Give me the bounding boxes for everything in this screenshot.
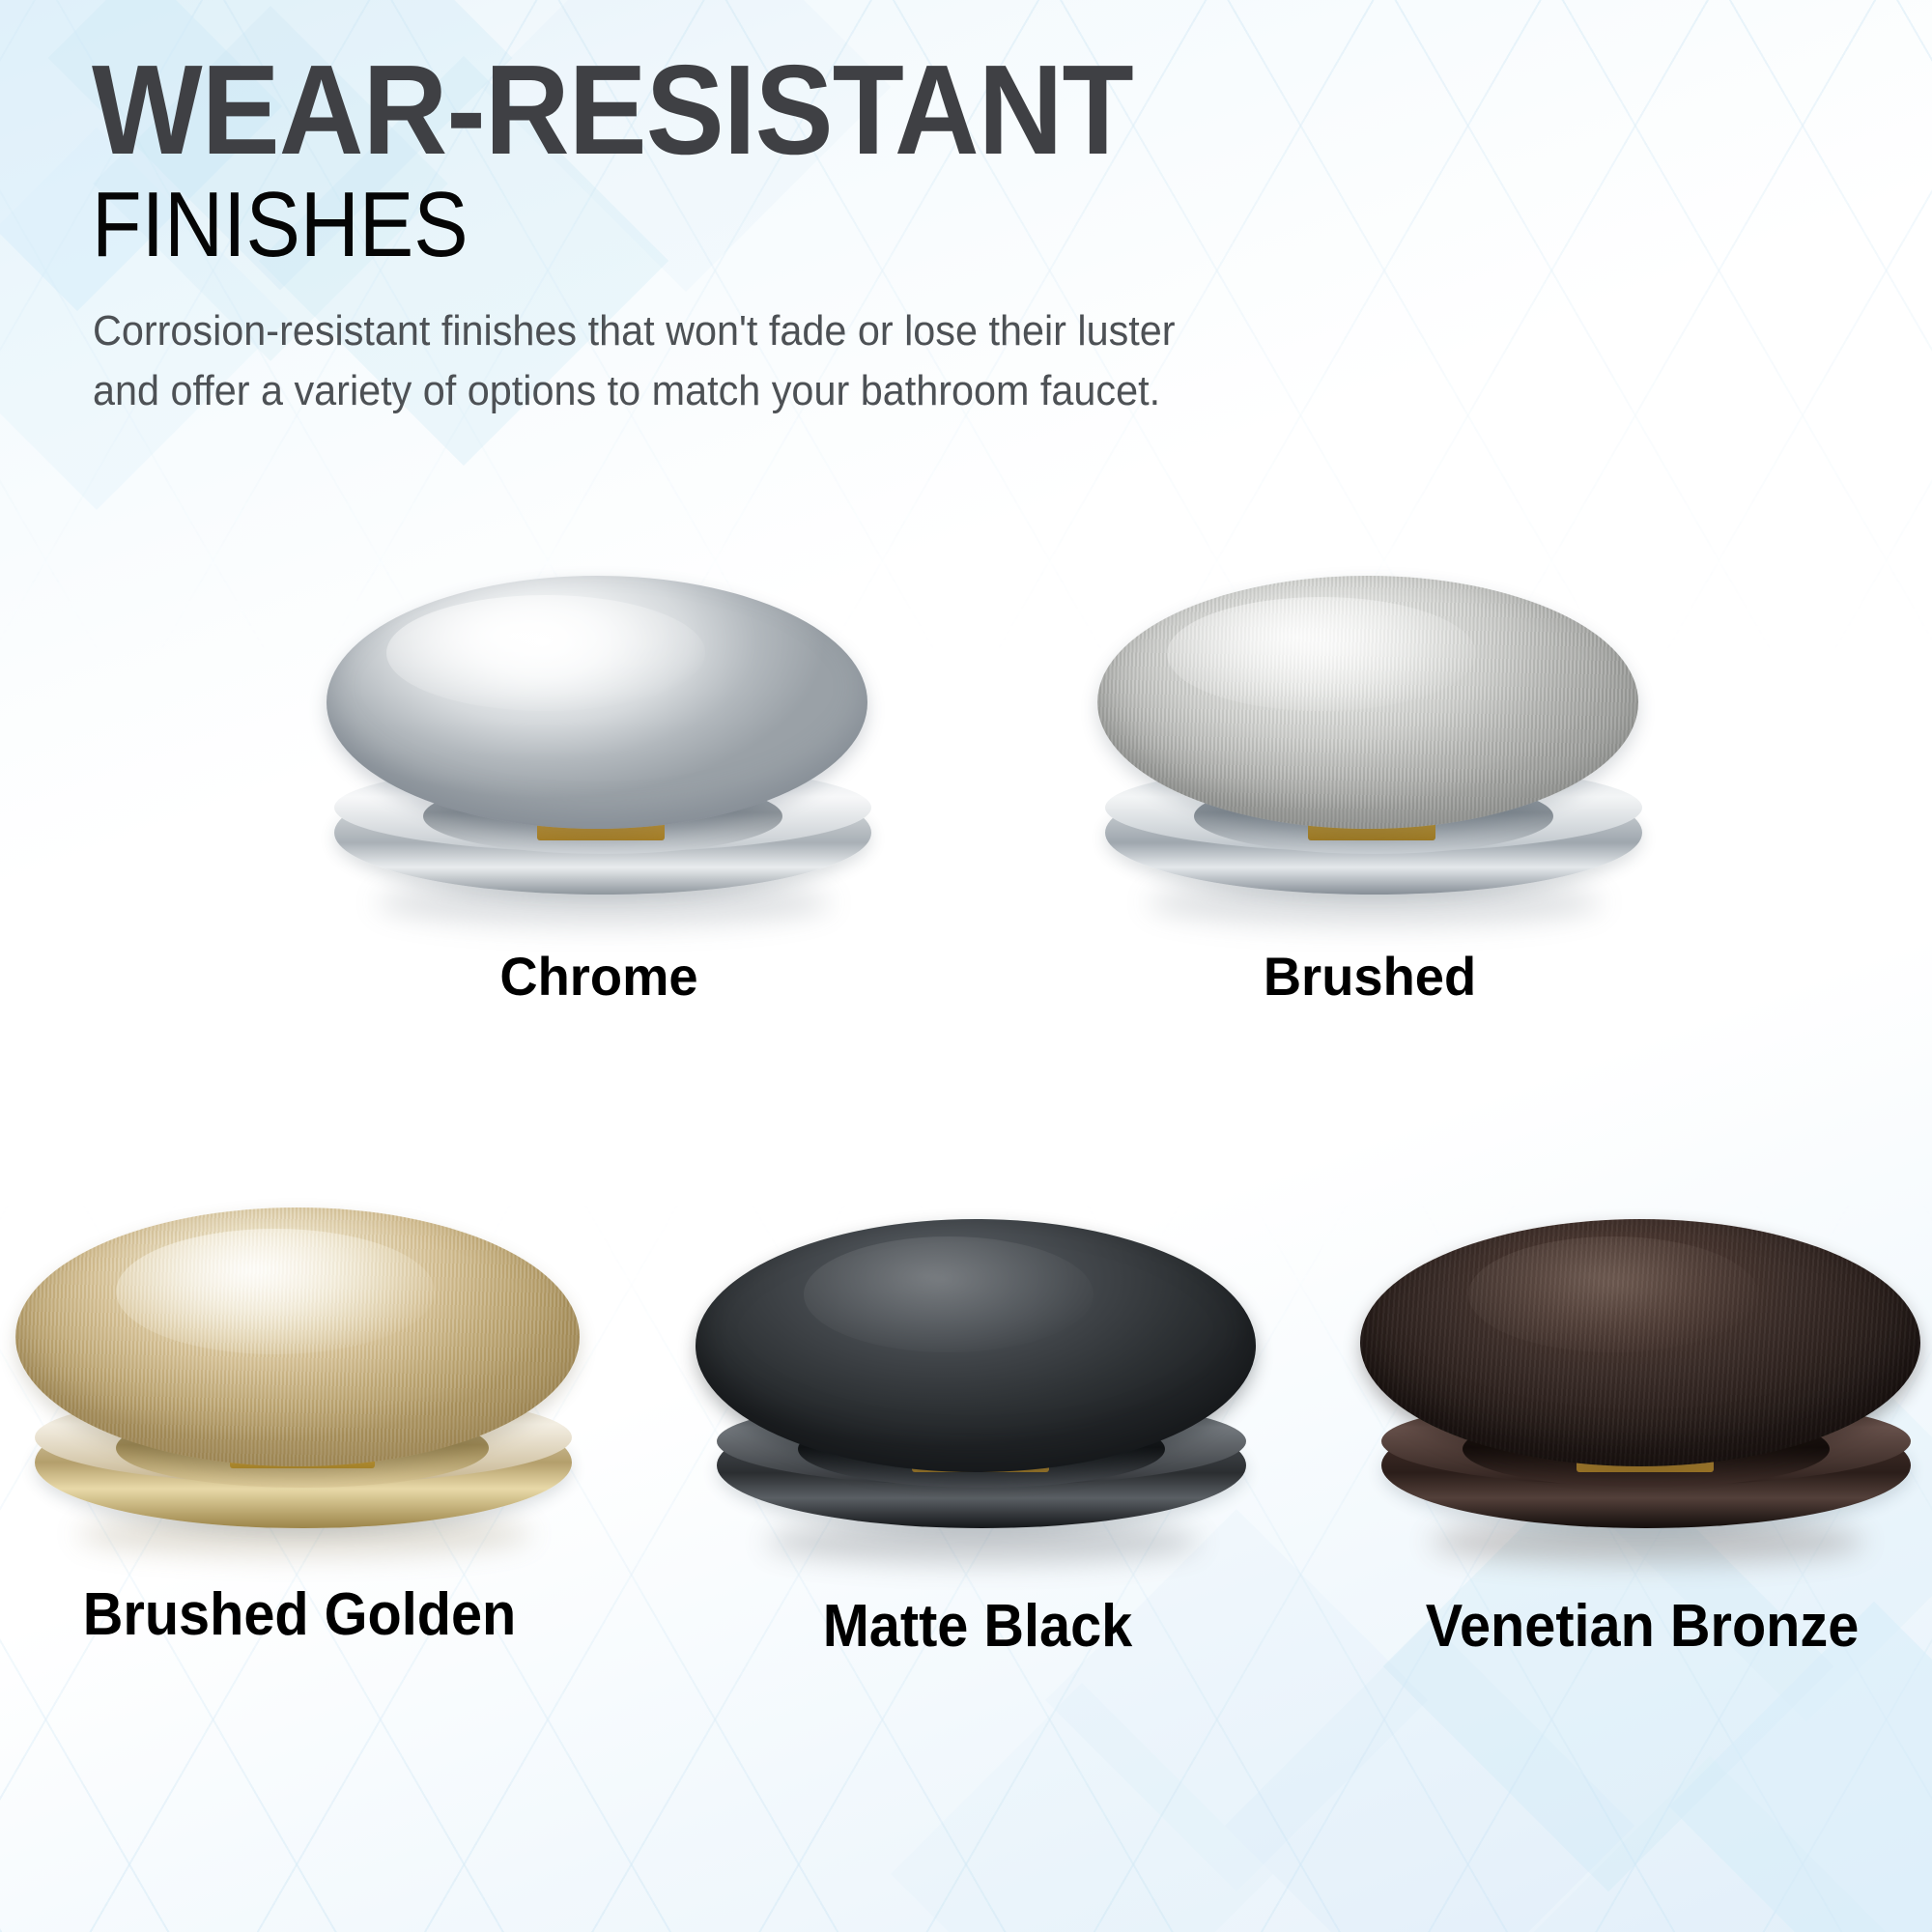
- product-card-venetian-bronze[interactable]: Venetian Bronze: [1352, 1219, 1932, 1673]
- dome-cap: [15, 1207, 580, 1466]
- infographic-page: WEAR-RESISTANT FINISHES Corrosion-resist…: [0, 0, 1932, 1932]
- header-description: Corrosion-resistant finishes that won't …: [93, 301, 1473, 422]
- product-image-matte-black: [688, 1219, 1267, 1567]
- product-label-brushed-golden: Brushed Golden: [30, 1580, 569, 1649]
- product-image-brushed: [1080, 570, 1660, 918]
- product-image-brushed-golden: [10, 1207, 589, 1555]
- dome-cap: [327, 576, 867, 829]
- product-card-brushed-golden[interactable]: Brushed Golden: [10, 1207, 589, 1662]
- dome-cap: [696, 1219, 1256, 1472]
- product-card-chrome[interactable]: Chrome: [309, 570, 889, 1024]
- product-image-chrome: [309, 570, 889, 918]
- dome-cap: [1097, 576, 1638, 829]
- header-block: WEAR-RESISTANT FINISHES Corrosion-resist…: [0, 0, 1932, 425]
- product-card-matte-black[interactable]: Matte Black: [688, 1219, 1267, 1673]
- product-image-venetian-bronze: [1352, 1219, 1932, 1567]
- product-label-matte-black: Matte Black: [708, 1592, 1247, 1661]
- description-line-2: and offer a variety of options to match …: [93, 361, 1473, 421]
- product-gallery: Chrome Brushed: [0, 425, 1932, 1932]
- page-title: WEAR-RESISTANT: [92, 46, 1133, 174]
- product-label-venetian-bronze: Venetian Bronze: [1373, 1592, 1912, 1661]
- dome-cap: [1360, 1219, 1920, 1466]
- description-line-1: Corrosion-resistant finishes that won't …: [93, 301, 1473, 361]
- product-label-brushed: Brushed: [1089, 945, 1651, 1008]
- product-label-chrome: Chrome: [318, 945, 880, 1008]
- product-card-brushed[interactable]: Brushed: [1080, 570, 1660, 1024]
- page-subtitle: FINISHES: [92, 179, 469, 271]
